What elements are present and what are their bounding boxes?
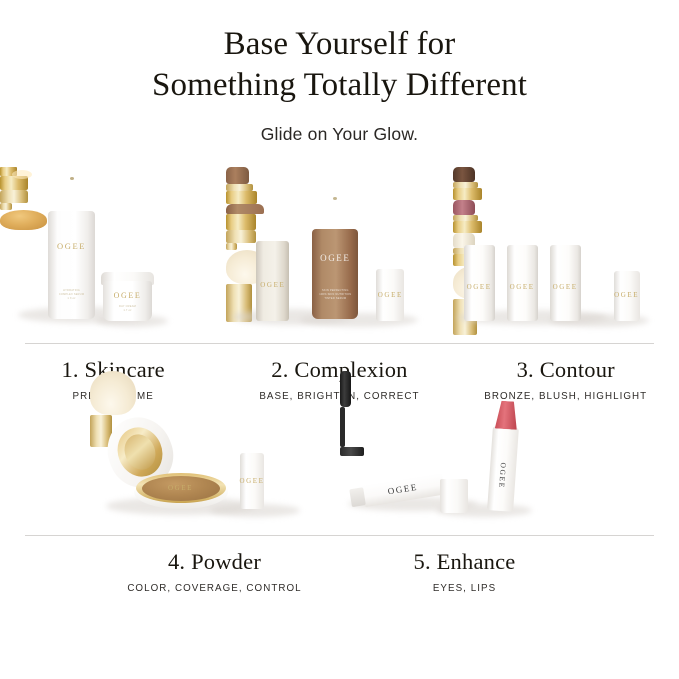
powder-pan: OGEE xyxy=(142,476,220,501)
step-label-enhance: 5. Enhance EYES, LIPS xyxy=(340,550,590,594)
step-description: COLOR, COVERAGE, CONTROL xyxy=(90,583,340,594)
stick-collar xyxy=(226,191,257,204)
lip-pencil-tip xyxy=(494,400,518,429)
brand-logo: OGEE xyxy=(256,281,289,289)
brand-logo: OGEE xyxy=(48,241,95,251)
brand-logo: OGEE xyxy=(312,253,358,263)
product-row-bottom: OGEE OGEE OGEE xyxy=(0,371,679,531)
brand-logo: OGEE xyxy=(142,484,220,492)
stick-ring xyxy=(453,182,478,188)
pump-head[interactable] xyxy=(0,190,28,203)
title-line-1: Base Yourself for xyxy=(224,26,456,62)
step-title: 5. Enhance xyxy=(340,550,590,575)
brand-logo: OGEE xyxy=(103,291,152,300)
contour-product-group: OGEE OGEE OGEE xyxy=(453,167,679,337)
brand-logo: OGEE xyxy=(240,477,264,485)
brand-logo: OGEE xyxy=(464,283,495,291)
stick-ring xyxy=(226,184,253,191)
enhance-product-group: OGEE OGEE xyxy=(340,371,590,531)
moisturizer-jar[interactable]: OGEE DAY CREAM1.7 oz xyxy=(103,281,152,321)
pump-nozzle xyxy=(0,203,12,210)
product-cell-complexion[interactable]: OGEE OGEE SKIN PERFECTING100% SKIN NUTRI… xyxy=(226,167,452,337)
section-divider-bottom xyxy=(25,535,654,536)
step-title: 4. Powder xyxy=(90,550,340,575)
highlighter-stick[interactable]: OGEE xyxy=(550,245,581,321)
concealer-bullet xyxy=(226,167,249,184)
mascara-wand-collar xyxy=(340,447,364,456)
blush-bullet xyxy=(453,200,475,215)
pump-button-dot xyxy=(70,177,74,180)
product-cell-skincare[interactable]: OGEE HYDRATINGCOMPLEX SERUM1 fl oz OGEE … xyxy=(0,167,226,337)
brand-logo: OGEE xyxy=(507,283,538,291)
step-labels-bottom: 4. Powder COLOR, COVERAGE, CONTROL 5. En… xyxy=(0,550,679,594)
pump-button-dot xyxy=(333,197,337,200)
page-subtitle: Glide on Your Glow. xyxy=(0,124,679,145)
contour-brush[interactable]: OGEE xyxy=(614,271,640,321)
product-cell-contour[interactable]: OGEE OGEE OGEE xyxy=(453,167,679,337)
brand-logo: OGEE xyxy=(376,291,404,299)
product-row-top: OGEE HYDRATINGCOMPLEX SERUM1 fl oz OGEE … xyxy=(0,167,679,337)
concealer-stick[interactable]: OGEE xyxy=(256,241,289,321)
blush-stick[interactable]: OGEE xyxy=(507,245,538,321)
mascara-wand-brush xyxy=(340,371,351,407)
header: Base Yourself for Something Totally Diff… xyxy=(0,0,679,145)
product-lineup-infographic: Base Yourself for Something Totally Diff… xyxy=(0,0,679,679)
brand-logo: OGEE xyxy=(550,283,581,291)
stick-collar xyxy=(453,188,482,200)
foundation-pump-bottle[interactable]: OGEE SKIN PERFECTING100% SKIN NUTRITIONT… xyxy=(312,229,358,319)
skincare-product-group: OGEE HYDRATINGCOMPLEX SERUM1 fl oz OGEE … xyxy=(0,167,226,337)
serum-pump-bottle[interactable]: OGEE HYDRATINGCOMPLEX SERUM1 fl oz xyxy=(48,211,95,319)
powder-brush[interactable]: OGEE xyxy=(240,453,264,509)
powder-product-group: OGEE OGEE xyxy=(90,371,340,531)
complexion-product-group: OGEE OGEE SKIN PERFECTING100% SKIN NUTRI… xyxy=(226,167,452,337)
stick-collar xyxy=(453,221,482,233)
product-cell-powder[interactable]: OGEE OGEE xyxy=(90,371,340,531)
brush-bristles xyxy=(90,371,136,415)
pump-nozzle xyxy=(226,243,237,250)
mascara-wand[interactable] xyxy=(440,479,468,513)
lip-pencil[interactable]: OGEE xyxy=(487,426,519,512)
pump-head[interactable] xyxy=(226,230,256,243)
brand-logo: OGEE xyxy=(497,462,508,489)
mascara-wand-stem xyxy=(340,407,345,447)
pump-collar xyxy=(226,214,256,230)
step-label-powder: 4. Powder COLOR, COVERAGE, CONTROL xyxy=(90,550,340,594)
bronzer-bullet xyxy=(453,167,475,182)
stick-ring xyxy=(453,215,478,221)
section-divider-top xyxy=(25,343,654,344)
foundation-brush[interactable]: OGEE xyxy=(376,269,404,321)
product-cell-enhance[interactable]: OGEE OGEE xyxy=(340,371,590,531)
step-description: EYES, LIPS xyxy=(340,583,590,594)
bottle-shoulder xyxy=(226,204,264,214)
title-line-2: Something Totally Different xyxy=(0,65,679,106)
product-fineprint: HYDRATINGCOMPLEX SERUM1 fl oz xyxy=(48,289,95,301)
product-fineprint: SKIN PERFECTING100% SKIN NUTRITIONTINTED… xyxy=(312,289,358,301)
bronzer-stick[interactable]: OGEE xyxy=(464,245,495,321)
page-title: Base Yourself for Something Totally Diff… xyxy=(0,24,679,106)
product-fineprint: DAY CREAM1.7 oz xyxy=(103,305,152,313)
brand-logo: OGEE xyxy=(614,291,640,299)
jar-cream-swirl xyxy=(0,210,47,230)
